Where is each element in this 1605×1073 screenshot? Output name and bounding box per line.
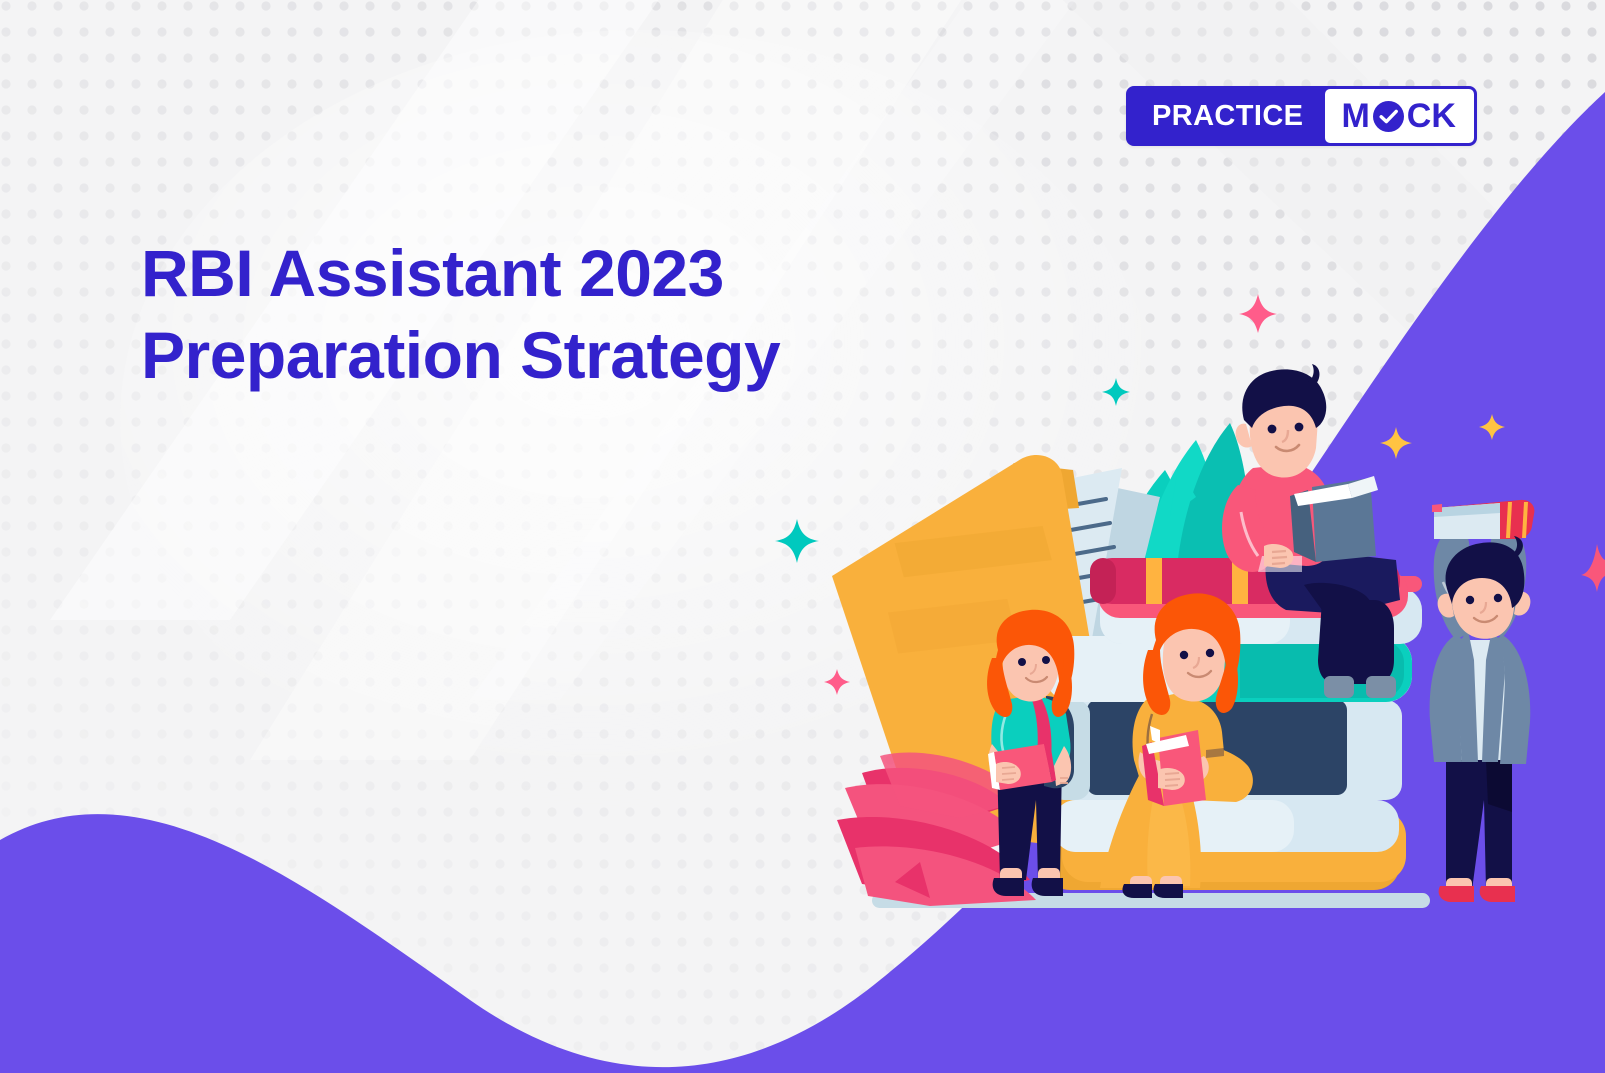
- banner-canvas: RBI Assistant 2023 Preparation Strategy …: [0, 0, 1605, 1073]
- logo-mock-text-part1: M: [1341, 99, 1369, 133]
- brand-logo[interactable]: PRACTICE M CK: [1126, 86, 1477, 146]
- logo-mock-plate: M CK: [1325, 89, 1473, 143]
- sparkle-pink-lower: [824, 669, 850, 695]
- page-title-line-1: RBI Assistant 2023: [141, 232, 901, 314]
- page-title: RBI Assistant 2023 Preparation Strategy: [141, 232, 901, 396]
- logo-mock-text-part2: CK: [1407, 99, 1456, 133]
- lifted-book-red: [1432, 500, 1534, 539]
- sparkle-teal-small: [1102, 378, 1130, 406]
- sparkle-pink-top: [1239, 294, 1277, 333]
- character-boy-lifting-book: [1430, 500, 1535, 902]
- sparkle-yellow-right: [1380, 427, 1412, 459]
- sparkle-teal-left: [775, 519, 819, 563]
- sparkle-yellow-far: [1479, 414, 1505, 440]
- sparkle-pink-right-edge: [1581, 544, 1605, 592]
- illustration-students-reading: [0, 0, 1605, 1073]
- logo-practice-text: PRACTICE: [1126, 86, 1325, 146]
- book-pages-light-lower: [1054, 800, 1399, 852]
- check-in-circle-icon: [1373, 101, 1404, 132]
- page-title-line-2: Preparation Strategy: [141, 314, 901, 396]
